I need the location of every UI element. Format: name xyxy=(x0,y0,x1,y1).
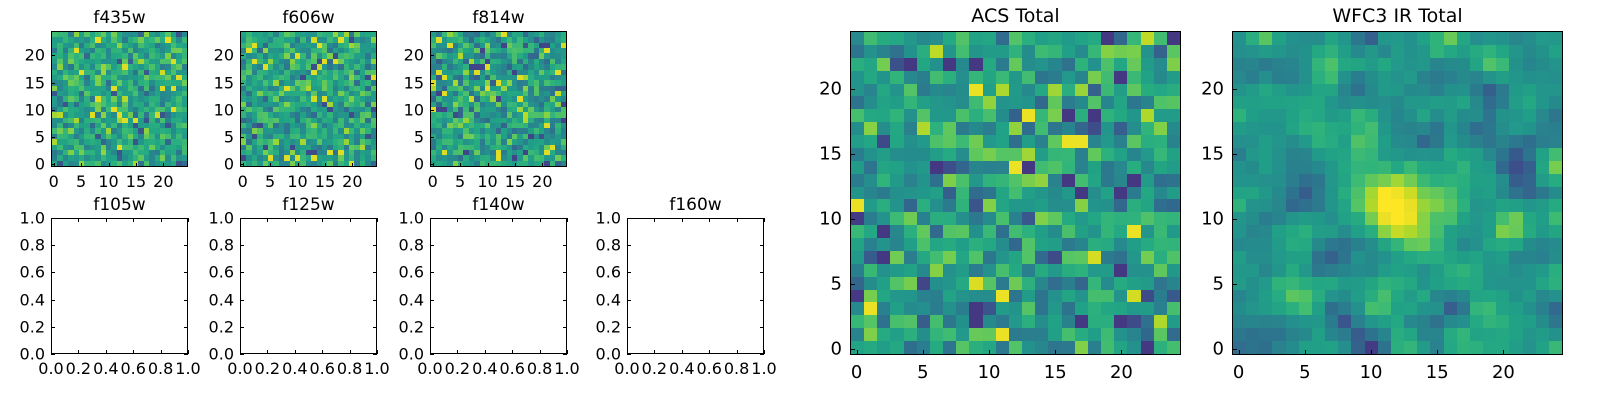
x-tick xyxy=(1503,350,1504,355)
y-tick-right xyxy=(760,300,764,301)
y-tick-label: 0.6 xyxy=(0,263,45,282)
y-tick xyxy=(51,164,55,165)
y-tick xyxy=(850,284,855,285)
y-tick xyxy=(850,89,855,90)
panel-f105w: f105w0.00.20.40.60.81.00.00.20.40.60.81.… xyxy=(51,218,188,354)
y-tick-label: 0.0 xyxy=(180,345,234,364)
panel-acs-total: ACS Total0510152005101520 xyxy=(850,31,1181,355)
x-tick xyxy=(457,350,458,354)
x-tick xyxy=(989,350,990,355)
y-tick xyxy=(430,137,434,138)
x-tick-label: 20 xyxy=(1110,362,1133,383)
y-tick-label: 0.8 xyxy=(567,236,621,255)
panel-wfc3-ir-total: WFC3 IR Total0510152005101520 xyxy=(1232,31,1563,355)
y-tick-label: 0.0 xyxy=(567,345,621,364)
panel-f125w: f125w0.00.20.40.60.81.00.00.20.40.60.81.… xyxy=(240,218,377,354)
heatmap-pixels xyxy=(1233,32,1562,354)
y-tick xyxy=(51,55,55,56)
y-tick xyxy=(51,218,55,219)
x-tick xyxy=(298,163,299,167)
x-tick xyxy=(325,163,326,167)
y-tick-label: 0.2 xyxy=(180,317,234,336)
x-tick-label: 0 xyxy=(49,172,59,191)
x-tick-top xyxy=(485,218,486,222)
y-tick-label: 0 xyxy=(1162,338,1224,359)
x-tick-top xyxy=(267,218,268,222)
x-tick-top xyxy=(457,218,458,222)
x-tick xyxy=(350,350,351,354)
y-tick xyxy=(1232,349,1237,350)
y-tick-right xyxy=(760,327,764,328)
y-tick xyxy=(51,354,55,355)
x-tick-label: 0 xyxy=(238,172,248,191)
y-tick xyxy=(240,300,244,301)
y-tick xyxy=(430,300,434,301)
y-tick-label: 0 xyxy=(0,155,45,174)
y-tick-label: 0.6 xyxy=(180,263,234,282)
plot-frame xyxy=(430,31,567,167)
y-tick-label: 0.0 xyxy=(370,345,424,364)
x-tick-top xyxy=(737,218,738,222)
x-tick-label: 20 xyxy=(153,172,173,191)
x-tick-label: 5 xyxy=(76,172,86,191)
x-tick-top xyxy=(540,218,541,222)
y-tick-right xyxy=(760,245,764,246)
y-tick xyxy=(240,110,244,111)
y-tick-label: 1.0 xyxy=(370,209,424,228)
y-tick xyxy=(51,110,55,111)
y-tick xyxy=(1232,284,1237,285)
x-tick xyxy=(1239,350,1240,355)
x-tick-label: 0.6 xyxy=(499,359,524,378)
y-tick xyxy=(430,164,434,165)
x-tick xyxy=(542,163,543,167)
plot-frame xyxy=(627,218,764,354)
y-tick-right xyxy=(760,354,764,355)
x-tick-label: 10 xyxy=(98,172,118,191)
x-tick xyxy=(515,163,516,167)
panel-f140w: f140w0.00.20.40.60.81.00.00.20.40.60.81.… xyxy=(430,218,567,354)
y-tick-label: 0.2 xyxy=(370,317,424,336)
x-tick-label: 0.4 xyxy=(282,359,307,378)
y-tick xyxy=(240,245,244,246)
x-tick-top xyxy=(654,218,655,222)
y-tick-label: 1.0 xyxy=(567,209,621,228)
plot-frame xyxy=(240,218,377,354)
x-tick xyxy=(295,350,296,354)
x-tick-top xyxy=(512,218,513,222)
plot-frame xyxy=(51,218,188,354)
y-tick xyxy=(850,219,855,220)
panel-title: f814w xyxy=(430,8,567,28)
y-tick xyxy=(627,327,631,328)
y-tick-label: 20 xyxy=(1162,79,1224,100)
y-tick-label: 0.0 xyxy=(0,345,45,364)
panel-f160w: f160w0.00.20.40.60.81.00.00.20.40.60.81.… xyxy=(627,218,764,354)
y-tick xyxy=(51,272,55,273)
y-tick-label: 0.8 xyxy=(0,236,45,255)
x-tick-label: 20 xyxy=(1492,362,1515,383)
y-tick-label: 0.8 xyxy=(370,236,424,255)
x-tick xyxy=(1437,350,1438,355)
y-tick xyxy=(627,272,631,273)
x-tick xyxy=(1371,350,1372,355)
x-tick-label: 0.2 xyxy=(255,359,280,378)
x-tick xyxy=(78,350,79,354)
x-tick-label: 20 xyxy=(532,172,552,191)
x-tick-label: 0.8 xyxy=(148,359,173,378)
x-tick-top xyxy=(764,218,765,222)
x-tick xyxy=(764,350,765,354)
x-tick-label: 0.6 xyxy=(696,359,721,378)
x-tick xyxy=(267,350,268,354)
x-tick xyxy=(923,350,924,355)
y-tick-label: 5 xyxy=(370,128,424,147)
x-tick xyxy=(322,350,323,354)
y-tick xyxy=(51,83,55,84)
x-tick xyxy=(682,350,683,354)
y-tick xyxy=(430,218,434,219)
y-tick-label: 0.6 xyxy=(370,263,424,282)
x-tick-label: 0 xyxy=(428,172,438,191)
x-tick-label: 10 xyxy=(1360,362,1383,383)
heatmap-pixels xyxy=(431,32,566,166)
y-tick xyxy=(240,354,244,355)
y-tick-label: 0.4 xyxy=(0,290,45,309)
plot-frame xyxy=(430,218,567,354)
y-tick xyxy=(627,300,631,301)
x-tick xyxy=(81,163,82,167)
x-tick-label: 0.8 xyxy=(337,359,362,378)
heatmap-pixels xyxy=(241,32,376,166)
y-tick-label: 0 xyxy=(780,338,842,359)
plot-frame xyxy=(1232,31,1563,355)
x-tick xyxy=(136,163,137,167)
x-tick-label: 5 xyxy=(455,172,465,191)
plot-frame xyxy=(240,31,377,167)
y-tick-label: 0.2 xyxy=(567,317,621,336)
y-tick xyxy=(430,83,434,84)
y-tick-right xyxy=(760,218,764,219)
y-tick xyxy=(240,137,244,138)
x-tick-label: 15 xyxy=(126,172,146,191)
panel-title: f606w xyxy=(240,8,377,28)
y-tick xyxy=(430,354,434,355)
y-tick xyxy=(240,327,244,328)
y-tick-label: 10 xyxy=(180,100,234,119)
y-tick-label: 20 xyxy=(180,46,234,65)
plot-frame xyxy=(850,31,1181,355)
x-tick xyxy=(1121,350,1122,355)
y-tick xyxy=(240,218,244,219)
y-tick-label: 15 xyxy=(0,73,45,92)
y-tick xyxy=(627,245,631,246)
panel-title: f140w xyxy=(430,195,567,215)
y-tick-label: 15 xyxy=(780,144,842,165)
y-tick xyxy=(430,327,434,328)
y-tick xyxy=(51,137,55,138)
x-tick-top xyxy=(106,218,107,222)
x-tick-label: 5 xyxy=(1299,362,1310,383)
x-tick-label: 0 xyxy=(1233,362,1244,383)
y-tick-label: 10 xyxy=(780,208,842,229)
y-tick-label: 1.0 xyxy=(0,209,45,228)
x-tick-top xyxy=(78,218,79,222)
y-tick-label: 0 xyxy=(370,155,424,174)
x-tick-label: 0.4 xyxy=(93,359,118,378)
x-tick-top xyxy=(682,218,683,222)
y-tick xyxy=(240,55,244,56)
x-tick xyxy=(857,350,858,355)
y-tick-label: 0.4 xyxy=(567,290,621,309)
y-tick xyxy=(1232,219,1237,220)
y-tick xyxy=(627,354,631,355)
x-tick xyxy=(512,350,513,354)
x-tick-top xyxy=(350,218,351,222)
x-tick-label: 15 xyxy=(1426,362,1449,383)
x-tick-label: 1.0 xyxy=(751,359,776,378)
y-tick-label: 0.4 xyxy=(180,290,234,309)
y-tick-label: 5 xyxy=(0,128,45,147)
x-tick-label: 5 xyxy=(917,362,928,383)
y-tick-label: 15 xyxy=(370,73,424,92)
x-tick xyxy=(1305,350,1306,355)
x-tick-label: 0.6 xyxy=(120,359,145,378)
panel-title: f435w xyxy=(51,8,188,28)
y-tick xyxy=(850,349,855,350)
plot-frame xyxy=(51,31,188,167)
x-tick xyxy=(737,350,738,354)
x-tick-label: 0.2 xyxy=(642,359,667,378)
y-tick-label: 20 xyxy=(370,46,424,65)
x-tick-label: 10 xyxy=(287,172,307,191)
y-tick xyxy=(51,300,55,301)
y-tick-label: 15 xyxy=(180,73,234,92)
x-tick xyxy=(540,350,541,354)
y-tick-label: 0.8 xyxy=(180,236,234,255)
y-tick-label: 10 xyxy=(1162,208,1224,229)
x-tick-label: 0.8 xyxy=(724,359,749,378)
y-tick xyxy=(430,272,434,273)
y-tick xyxy=(430,245,434,246)
y-tick xyxy=(51,327,55,328)
x-tick-label: 5 xyxy=(265,172,275,191)
x-tick-label: 0.6 xyxy=(309,359,334,378)
x-tick xyxy=(485,350,486,354)
heatmap-pixels xyxy=(851,32,1180,354)
x-tick-top xyxy=(709,218,710,222)
y-tick-label: 5 xyxy=(780,273,842,294)
panel-title: f105w xyxy=(51,195,188,215)
y-tick-label: 5 xyxy=(180,128,234,147)
y-tick xyxy=(627,218,631,219)
x-tick-label: 15 xyxy=(315,172,335,191)
panel-title: ACS Total xyxy=(850,5,1181,27)
x-tick-top xyxy=(133,218,134,222)
y-tick-label: 0.4 xyxy=(370,290,424,309)
y-tick xyxy=(240,164,244,165)
x-tick-label: 15 xyxy=(1044,362,1067,383)
x-tick-label: 0.2 xyxy=(66,359,91,378)
x-tick xyxy=(106,350,107,354)
x-tick xyxy=(709,350,710,354)
y-tick-label: 10 xyxy=(370,100,424,119)
x-tick xyxy=(654,350,655,354)
x-tick-label: 20 xyxy=(342,172,362,191)
y-tick xyxy=(850,154,855,155)
y-tick xyxy=(1232,89,1237,90)
x-tick xyxy=(270,163,271,167)
y-tick-label: 15 xyxy=(1162,144,1224,165)
y-tick-label: 1.0 xyxy=(180,209,234,228)
x-tick-label: 10 xyxy=(477,172,497,191)
y-tick xyxy=(1232,154,1237,155)
x-tick xyxy=(163,163,164,167)
x-tick xyxy=(161,350,162,354)
y-tick xyxy=(430,110,434,111)
y-tick-label: 0.2 xyxy=(0,317,45,336)
y-tick xyxy=(240,272,244,273)
panel-f606w: f606w0510152005101520 xyxy=(240,31,377,167)
x-tick xyxy=(488,163,489,167)
y-tick-label: 0.6 xyxy=(567,263,621,282)
x-tick xyxy=(352,163,353,167)
y-tick-label: 10 xyxy=(0,100,45,119)
y-tick-label: 5 xyxy=(1162,273,1224,294)
heatmap-pixels xyxy=(52,32,187,166)
x-tick-label: 0.4 xyxy=(669,359,694,378)
y-tick xyxy=(51,245,55,246)
x-tick xyxy=(133,350,134,354)
panel-f814w: f814w0510152005101520 xyxy=(430,31,567,167)
x-tick-label: 0 xyxy=(851,362,862,383)
x-tick-top xyxy=(322,218,323,222)
x-tick-label: 0.2 xyxy=(445,359,470,378)
panel-f435w: f435w0510152005101520 xyxy=(51,31,188,167)
x-tick-label: 0.8 xyxy=(527,359,552,378)
panel-title: f125w xyxy=(240,195,377,215)
y-tick-label: 0 xyxy=(180,155,234,174)
x-tick-label: 10 xyxy=(978,362,1001,383)
y-tick-label: 20 xyxy=(780,79,842,100)
x-tick-top xyxy=(295,218,296,222)
y-tick-label: 20 xyxy=(0,46,45,65)
panel-title: f160w xyxy=(627,195,764,215)
x-tick xyxy=(109,163,110,167)
y-tick-right xyxy=(760,272,764,273)
x-tick xyxy=(460,163,461,167)
x-tick-top xyxy=(161,218,162,222)
panel-title: WFC3 IR Total xyxy=(1232,5,1563,27)
x-tick-label: 15 xyxy=(505,172,525,191)
figure-canvas: f435w0510152005101520f606w05101520051015… xyxy=(0,0,1600,400)
x-tick-label: 0.4 xyxy=(472,359,497,378)
y-tick xyxy=(240,83,244,84)
y-tick xyxy=(430,55,434,56)
x-tick xyxy=(1055,350,1056,355)
